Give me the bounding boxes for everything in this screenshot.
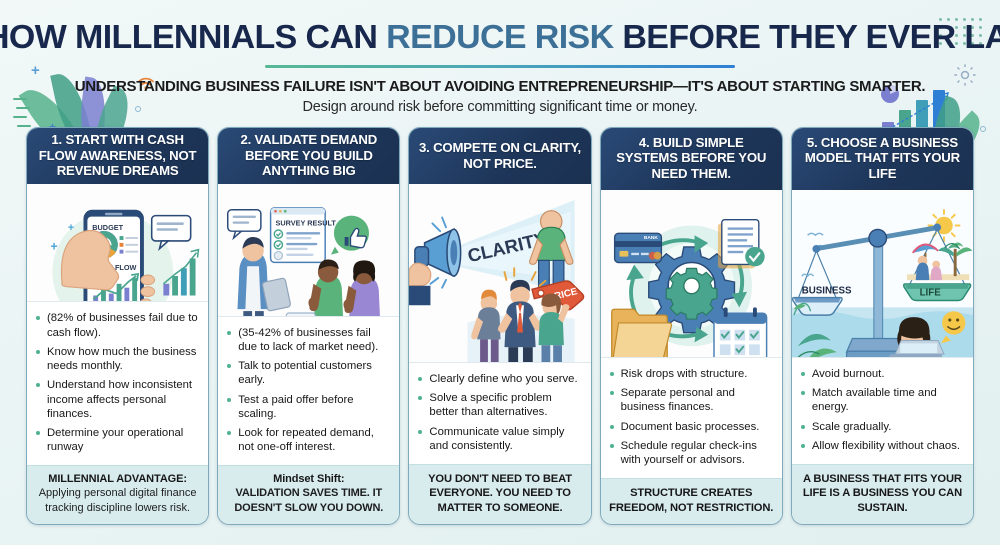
svg-text:LIFE: LIFE [919, 287, 941, 298]
svg-text:+: + [68, 222, 74, 234]
card-business-model-fits-life[interactable]: 5. CHOOSE A BUSINESS MODEL THAT FITS YOU… [791, 127, 974, 525]
footer-body: Applying personal digital finance tracki… [33, 486, 202, 515]
tagline: Design around risk before committing sig… [0, 99, 1000, 115]
list-item: Scale gradually. [800, 420, 964, 434]
list-item: Know how much the business needs monthly… [35, 345, 199, 373]
card-bullet-list: (35-42% of businesses fail due to lack o… [218, 317, 399, 466]
infographic-header: HOW MILLENNIALS CAN REDUCE RISK BEFORE T… [0, 0, 1000, 115]
card-heading: 2. VALIDATE DEMAND BEFORE YOU BUILD ANYT… [218, 128, 399, 184]
list-item: Understand how inconsistent income affec… [35, 378, 199, 421]
svg-text:BUDGET: BUDGET [92, 223, 123, 232]
list-item: Separate personal and business finances. [609, 386, 773, 414]
footer-strong: STRUCTURE CREATES FREEDOM, NOT RESTRICTI… [607, 486, 776, 515]
list-item: Test a paid offer before scaling. [226, 393, 390, 421]
list-item: Match available time and energy. [800, 386, 964, 414]
card-validate-demand[interactable]: 2. VALIDATE DEMAND BEFORE YOU BUILD ANYT… [217, 127, 400, 525]
list-item: Clearly define who you serve. [417, 372, 581, 386]
svg-text:BANK: BANK [643, 235, 658, 241]
card-heading: 5. CHOOSE A BUSINESS MODEL THAT FITS YOU… [792, 128, 973, 190]
card-row: 1. START WITH CASH FLOW AWARENESS, NOT R… [0, 115, 1000, 525]
card-illustration-megaphone-clarity: CLARITY PRICE [409, 184, 590, 363]
title-divider [265, 65, 735, 68]
card-heading: 1. START WITH CASH FLOW AWARENESS, NOT R… [27, 128, 208, 184]
card-illustration-phone-budget: BUDGET CASH FLOW [27, 184, 208, 302]
list-item: Risk drops with structure. [609, 367, 773, 381]
footer-strong: A BUSINESS THAT FITS YOUR LIFE IS A BUSI… [798, 472, 967, 515]
title-segment-2: BEFORE THEY EVER LAUNCH [614, 18, 1000, 55]
footer-strong: YOU DON'T NEED TO BEAT EVERYONE. YOU NEE… [415, 472, 584, 515]
card-heading: 4. BUILD SIMPLE SYSTEMS BEFORE YOU NEED … [601, 128, 782, 190]
list-item: (82% of businesses fail due to cash flow… [35, 311, 199, 339]
list-item: Determine your operational runway [35, 426, 199, 454]
title-accent: REDUCE RISK [386, 18, 613, 55]
list-item: Schedule regular check-ins with yourself… [609, 439, 773, 467]
footer-lead: Mindset Shift: [224, 473, 393, 485]
list-item: Solve a specific problem better than alt… [417, 391, 581, 419]
svg-text:SURVEY RESULT: SURVEY RESULT [276, 218, 337, 227]
card-illustration-balance-scale-business-life: BUSINESS LIFE [792, 190, 973, 358]
list-item: (35-42% of businesses fail due to lack o… [226, 326, 390, 354]
card-bullet-list: Avoid burnout. Match available time and … [792, 358, 973, 464]
footer-lead: MILLENNIAL ADVANTAGE: [33, 473, 202, 485]
card-bullet-list: Risk drops with structure. Separate pers… [601, 358, 782, 478]
list-item: Talk to potential customers early. [226, 359, 390, 387]
card-compete-on-clarity[interactable]: 3. COMPETE ON CLARITY, NOT PRICE. CLARIT… [408, 127, 591, 525]
card-illustration-survey-thumbs-up: SURVEY RESULT [218, 184, 399, 317]
card-heading: 3. COMPETE ON CLARITY, NOT PRICE. [409, 128, 590, 184]
svg-text:BUSINESS: BUSINESS [802, 285, 852, 296]
list-item: Communicate value simply and consistentl… [417, 425, 581, 453]
card-bullet-list: Clearly define who you serve. Solve a sp… [409, 363, 590, 464]
card-footer: A BUSINESS THAT FITS YOUR LIFE IS A BUSI… [792, 464, 973, 524]
list-item: Document basic processes. [609, 420, 773, 434]
card-build-simple-systems[interactable]: 4. BUILD SIMPLE SYSTEMS BEFORE YOU NEED … [600, 127, 783, 525]
card-footer: YOU DON'T NEED TO BEAT EVERYONE. YOU NEE… [409, 464, 590, 524]
card-illustration-systems-gear-cycle: BANK [601, 190, 782, 358]
card-cash-flow-awareness[interactable]: 1. START WITH CASH FLOW AWARENESS, NOT R… [26, 127, 209, 525]
card-footer: STRUCTURE CREATES FREEDOM, NOT RESTRICTI… [601, 478, 782, 524]
card-footer: Mindset Shift: VALIDATION SAVES TIME. IT… [218, 465, 399, 524]
card-bullet-list: (82% of businesses fail due to cash flow… [27, 302, 208, 465]
list-item: Allow flexibility without chaos. [800, 439, 964, 453]
footer-body: VALIDATION SAVES TIME. IT DOESN'T SLOW Y… [224, 486, 393, 515]
card-footer: MILLENNIAL ADVANTAGE: Applying personal … [27, 465, 208, 524]
title-segment-1: HOW MILLENNIALS CAN [0, 18, 386, 55]
page-title: HOW MILLENNIALS CAN REDUCE RISK BEFORE T… [0, 18, 1000, 56]
list-item: Avoid burnout. [800, 367, 964, 381]
svg-text:+: + [50, 240, 57, 254]
subtitle: UNDERSTANDING BUSINESS FAILURE ISN'T ABO… [0, 78, 1000, 95]
list-item: Look for repeated demand, not one-off in… [226, 426, 390, 454]
